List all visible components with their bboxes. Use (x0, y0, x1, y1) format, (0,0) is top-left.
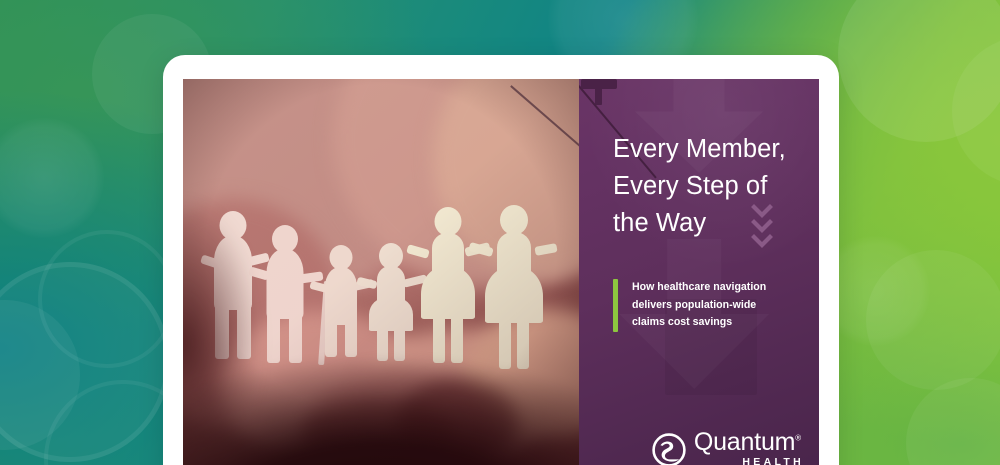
tablet-device: Every Member, Every Step of the Way (163, 55, 839, 465)
subtitle-line-2: delivers population-wide (632, 297, 792, 315)
headline-line-1: Every Member, (613, 131, 793, 168)
quantum-swoosh-icon (651, 432, 687, 465)
screenshot-canvas: Every Member, Every Step of the Way (0, 0, 1000, 465)
headline-line-2: Every Step of (613, 168, 793, 205)
logo-word-quantum: Quantum® (694, 430, 801, 455)
cover-subtitle: How healthcare navigation delivers popul… (632, 279, 792, 332)
chevron-down-icon-group (749, 203, 775, 249)
logo-word-health: HEALTH (742, 456, 804, 465)
cover-subtitle-block: How healthcare navigation delivers popul… (613, 279, 792, 332)
subtitle-line-3: claims cost savings (632, 314, 792, 332)
quantum-health-logo: Quantum® HEALTH (651, 430, 801, 465)
logo-wordmark: Quantum® HEALTH (694, 430, 801, 465)
cover-photo (183, 79, 579, 465)
registered-trademark-icon: ® (795, 434, 801, 443)
decorative-tee-bar (581, 79, 617, 89)
photo-vignette (183, 79, 579, 465)
cover-panel: Every Member, Every Step of the Way (579, 79, 819, 465)
tablet-screen: Every Member, Every Step of the Way (183, 79, 819, 465)
accent-bar (613, 279, 618, 332)
logo-word-text: Quantum (694, 428, 795, 456)
subtitle-line-1: How healthcare navigation (632, 279, 792, 297)
